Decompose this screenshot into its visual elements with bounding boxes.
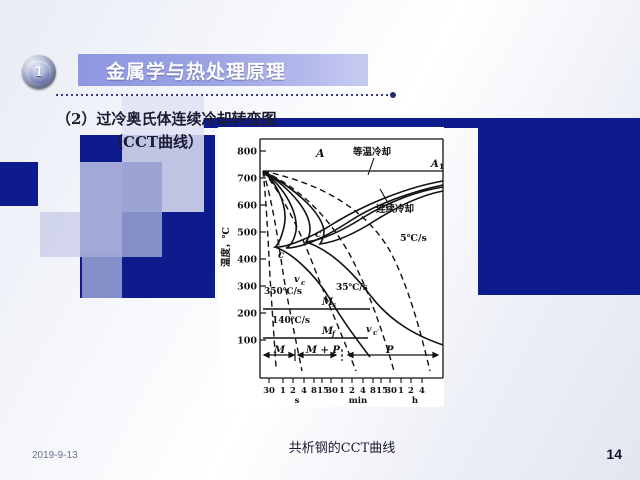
y-tick-labels: 800 700 600 500 400 300 200 100	[237, 147, 257, 347]
slide-canvas: 1 金属学与热处理原理 （2）过冷奥氏体连续冷却转变图 （CCT曲线）	[0, 0, 640, 480]
label-region-m: M	[273, 345, 286, 356]
section-number-badge: 1	[22, 55, 56, 89]
decor-block-light-c	[82, 212, 122, 257]
label-ms-subscript: s	[332, 300, 336, 309]
svg-text:1: 1	[339, 386, 345, 396]
svg-text:1: 1	[280, 386, 286, 396]
x-tick-labels: 30 1 2 4 8 15 30 1 2 4 8 15 30 1 2 4	[263, 386, 425, 396]
label-austenite: A	[315, 147, 325, 160]
svg-text:300: 300	[237, 282, 257, 293]
divider-endcap-dot	[390, 92, 396, 98]
figure-panel: 800 700 600 500 400 300 200 100 温度，℃ A 1…	[218, 127, 444, 407]
slide-page-number: 14	[606, 446, 622, 462]
svg-text:600: 600	[237, 201, 257, 212]
svg-text:30: 30	[385, 386, 397, 396]
label-a1-subscript: 1	[439, 162, 444, 171]
cct-start-curve	[263, 171, 443, 242]
decor-block-mid-b	[82, 253, 122, 298]
label-mf-subscript: f	[331, 329, 337, 338]
svg-text:4: 4	[301, 386, 307, 396]
decor-block-pale-a	[122, 96, 162, 162]
y-ticks	[260, 151, 266, 340]
svg-text:2: 2	[349, 386, 355, 396]
label-rate-5: 5℃/s	[400, 233, 427, 244]
label-vc-subscript: c	[301, 278, 306, 287]
bullet-line-2: （CCT曲线）	[108, 131, 203, 152]
decor-block-dark-right	[478, 118, 640, 295]
svg-text:800: 800	[237, 147, 257, 158]
decor-block-mid-a	[122, 162, 162, 212]
svg-text:min: min	[349, 396, 367, 406]
label-rate-140: 140℃/s	[272, 316, 310, 326]
bullet-line-1: （2）过冷奥氏体连续冷却转变图	[56, 108, 276, 129]
leader-continuous	[380, 189, 388, 203]
label-nose-c-prime: c′	[315, 229, 324, 240]
svg-text:30: 30	[326, 386, 338, 396]
svg-text:2: 2	[290, 386, 296, 396]
badge-inner-circle: 1	[28, 61, 51, 84]
label-isothermal-cooling: 等温冷却	[352, 146, 391, 158]
svg-text:200: 200	[237, 309, 257, 320]
label-vc-prime-subscript: c′	[373, 328, 379, 337]
page-title: 金属学与热处理原理	[106, 57, 286, 84]
svg-text:4: 4	[360, 386, 366, 396]
label-rate-350: 350℃/s	[264, 287, 302, 297]
leader-isothermal	[368, 158, 374, 175]
slide-title-bar: 金属学与热处理原理	[78, 54, 368, 86]
label-a1: A	[430, 159, 439, 170]
svg-text:s: s	[295, 396, 300, 406]
label-vc-prime: v	[366, 324, 372, 335]
figure-caption: 共析钢的CCT曲线	[252, 437, 432, 456]
svg-text:温度，℃: 温度，℃	[220, 227, 232, 267]
svg-text:4: 4	[419, 386, 425, 396]
svg-text:700: 700	[237, 174, 257, 185]
svg-text:500: 500	[237, 228, 257, 239]
label-region-mp: M + P	[305, 345, 340, 356]
x-unit-labels: s min h	[295, 396, 418, 406]
product-region-bars	[264, 349, 438, 361]
label-region-p: P	[385, 345, 394, 356]
decor-block-dark-left	[0, 162, 38, 206]
slide-date: 2019-9-13	[32, 450, 78, 461]
svg-text:2: 2	[408, 386, 414, 396]
label-rate-35: 35℃/s	[336, 283, 368, 293]
svg-text:400: 400	[237, 255, 257, 266]
decor-block-light-b	[40, 212, 82, 257]
badge-number: 1	[35, 65, 43, 80]
svg-text:30: 30	[263, 386, 275, 396]
svg-text:h: h	[412, 396, 418, 406]
y-axis-title: 温度，℃	[220, 227, 232, 267]
cct-diagram: 800 700 600 500 400 300 200 100 温度，℃ A 1…	[218, 127, 444, 407]
svg-text:100: 100	[237, 336, 257, 347]
x-ticks	[269, 378, 422, 383]
decor-block-mid-c	[122, 212, 162, 257]
label-vc: v	[294, 274, 300, 285]
title-dotted-divider	[56, 94, 392, 96]
svg-text:1: 1	[398, 386, 404, 396]
